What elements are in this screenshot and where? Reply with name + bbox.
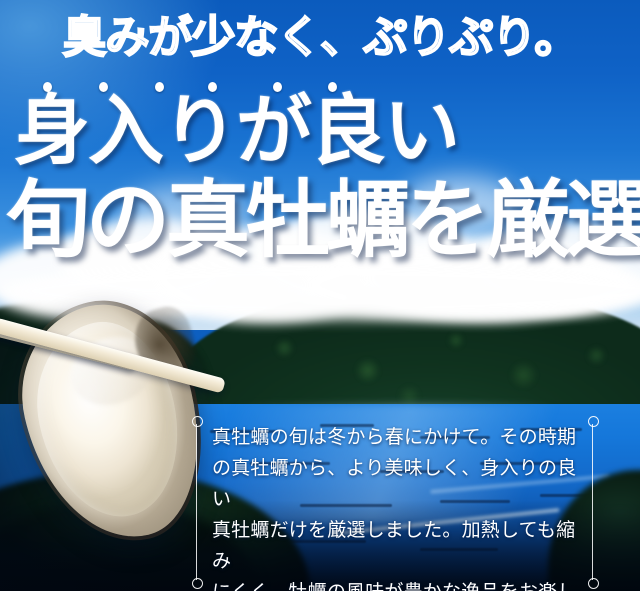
body-copy-line: の真牡蠣から、より美味しく、身入りの良い — [212, 453, 584, 515]
body-copy-block: 真牡蠣の旬は冬から春にかけて。その時期 の真牡蠣から、より美味しく、身入りの良い… — [196, 412, 604, 584]
body-copy-text: 真牡蠣の旬は冬から春にかけて。その時期 の真牡蠣から、より美味しく、身入りの良い… — [212, 422, 584, 591]
oyster-promo-banner: 臭みが少なく、ぷりぷり。 身入りが良い 旬の真牡蠣を厳選 真牡蠣の旬は冬から春に… — [0, 0, 640, 591]
headline-line-3: 旬の真牡蠣を厳選 — [6, 176, 640, 264]
body-copy-line: 真牡蠣だけを厳選しました。加熱しても縮み — [212, 515, 584, 577]
copy-rule-right — [592, 424, 593, 580]
corner-ring-icon — [588, 578, 599, 589]
body-copy-line: にくく、牡蠣の風味が豊かな逸品をお楽しみ — [212, 577, 584, 591]
body-copy-line: 真牡蠣の旬は冬から春にかけて。その時期 — [212, 422, 584, 453]
corner-ring-icon — [588, 416, 599, 427]
headline-line-2: 身入りが良い — [14, 92, 640, 170]
copy-rule-left — [196, 424, 197, 580]
corner-ring-icon — [192, 416, 203, 427]
corner-ring-icon — [192, 578, 203, 589]
headline-line-1: 臭みが少なく、ぷりぷり。 — [0, 12, 640, 64]
